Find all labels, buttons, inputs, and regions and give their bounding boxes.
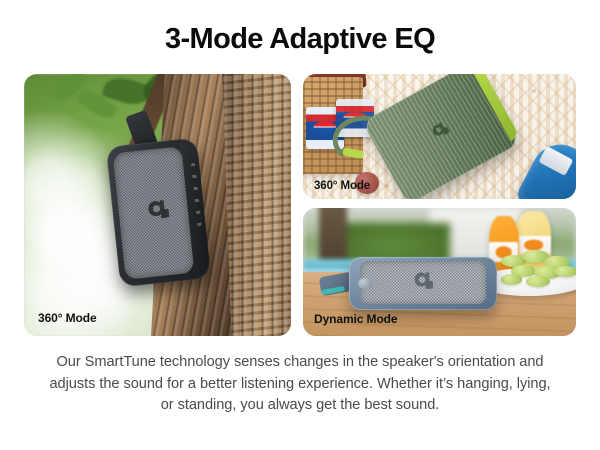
pepsi-logo-icon — [313, 121, 336, 132]
speaker-dark — [106, 138, 211, 288]
product-feature-card: 3-Mode Adaptive EQ — [0, 0, 600, 450]
background-tree — [319, 208, 346, 267]
knit-texture-dot — [385, 184, 389, 188]
speaker-blue — [349, 257, 496, 311]
grape — [526, 276, 550, 287]
scene-tree — [24, 74, 291, 336]
soundcore-logo-icon — [409, 269, 437, 298]
soundcore-logo-icon — [142, 196, 175, 230]
grape — [501, 274, 523, 284]
tree-trunk-right — [221, 74, 291, 336]
panel-hanging-tree[interactable]: 360° Mode — [24, 74, 291, 336]
grape — [554, 266, 576, 277]
speaker-knob — [358, 278, 371, 289]
panel-caption: Dynamic Mode — [314, 312, 398, 326]
panel-caption: 360° Mode — [38, 311, 97, 325]
panel-grid: 360° Mode — [24, 74, 576, 336]
panel-lying-blanket[interactable]: 360° Mode — [303, 74, 576, 199]
grape-cluster — [483, 241, 576, 287]
description-text: Our SmartTune technology senses changes … — [44, 352, 556, 417]
panel-caption: 360° Mode — [314, 180, 370, 192]
panel-standing-poolside[interactable]: Dynamic Mode — [303, 208, 576, 336]
page-title: 3-Mode Adaptive EQ — [0, 22, 600, 56]
